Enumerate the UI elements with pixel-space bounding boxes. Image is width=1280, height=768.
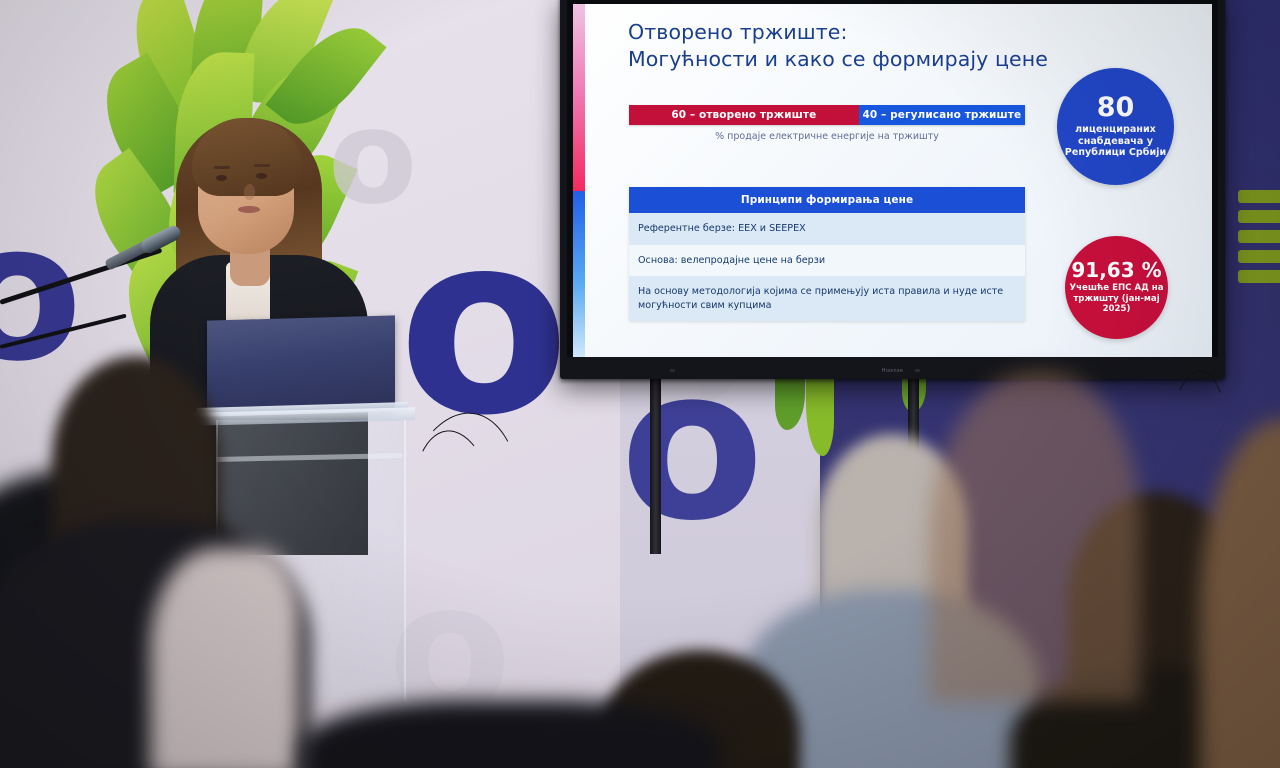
pricing-principles-table: Принципи формирања цене Референтне берзе… [629, 187, 1025, 321]
stat-caption: Учешће ЕПС АД на тржишту (јан-мај 2025) [1065, 283, 1168, 314]
tv-ir-sensor [670, 369, 675, 372]
table-row: Референтне берзе: EEX и SEEPEX [629, 213, 1025, 245]
presenter-eyebrow-right [254, 164, 270, 167]
wall-logo-glyph-partial-left: o [0, 198, 83, 388]
wall-logo-glyph-large: o [398, 200, 570, 450]
screenshot-root: o o o o o Hisense Отворено тржиште: Могу… [0, 0, 1280, 768]
tv-stand-leg-left [650, 374, 661, 554]
presenter-mouth [238, 206, 260, 213]
tv-brand-label: Hisense [882, 368, 904, 374]
stat-circle-licensed-suppliers: 80 лиценцираних снабдевача у Републици С… [1057, 68, 1174, 185]
decor-bars-topright [1238, 190, 1280, 290]
slide-title-line-1: Отворено тржиште: [628, 20, 847, 44]
slide-accent-stripe [573, 4, 585, 357]
market-share-bar-caption: % продаје електричне енергије на тржишту [629, 131, 1025, 142]
tv-led-indicator [915, 369, 920, 372]
table-header: Принципи формирања цене [629, 187, 1025, 213]
market-share-bar: 60 – отворено тржиште 40 – регулисано тр… [629, 105, 1025, 125]
slide-stripe-blue [573, 191, 585, 357]
stat-value: 80 [1097, 94, 1135, 121]
presenter-eye-right [256, 173, 267, 179]
presentation-slide: Отворено тржиште: Могућности и како се ф… [573, 4, 1212, 357]
presenter-eyebrow-left [214, 166, 230, 169]
stat-circle-eps-market-share: 91,63 % Учешће ЕПС АД на тржишту (јан-ма… [1065, 236, 1168, 339]
slide-stripe-pink [573, 4, 585, 191]
presenter-nose [244, 184, 255, 200]
table-row: Основа: велепродајне цене на берзи [629, 245, 1025, 277]
audience-shirt-left [150, 548, 300, 768]
stat-caption: лиценцираних снабдевача у Републици Срби… [1057, 124, 1174, 159]
slide-title: Отворено тржиште: Могућности и како се ф… [628, 19, 1048, 74]
bar-segment-open-market: 60 – отворено тржиште [629, 105, 859, 125]
laptop-lid [207, 315, 395, 414]
bar-segment-regulated-market: 40 – регулисано тржиште [859, 105, 1025, 125]
table-row: На основу методологија којима се примењу… [629, 276, 1025, 321]
audience-head-foreground-blur [930, 372, 1140, 702]
stat-value: 91,63 % [1071, 260, 1161, 280]
presenter-eye-left [216, 175, 227, 181]
slide-title-line-2: Могућности и како се формирају цене [628, 46, 1048, 73]
audience-shoulder-bottom-center [300, 700, 720, 768]
